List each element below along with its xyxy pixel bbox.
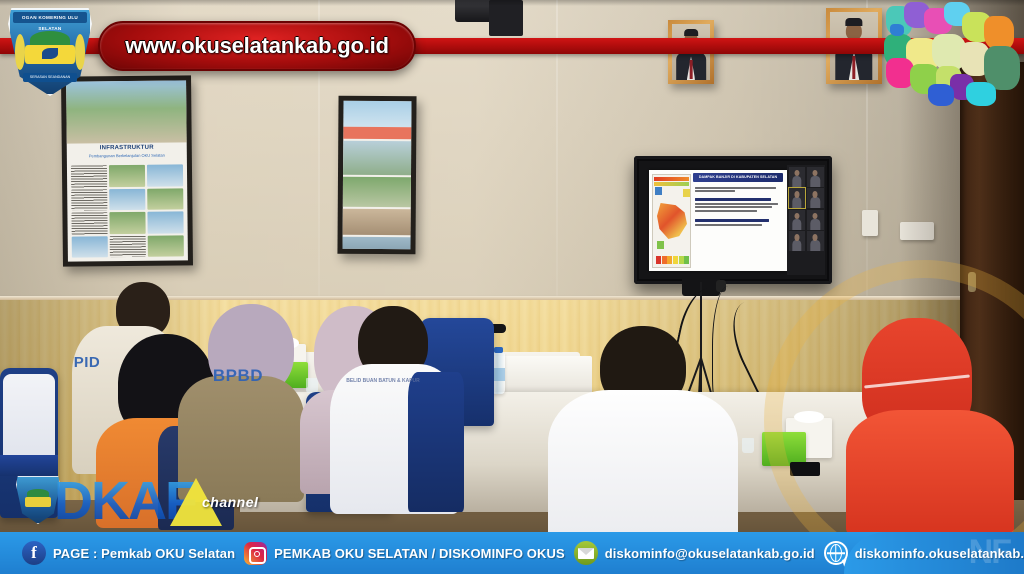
email-label: diskominfo@okuselatankab.go.id — [605, 546, 815, 561]
kabupaten-crest-logo: OGAN KOMERING ULU SELATAN SERASAN SEANDA… — [8, 8, 92, 96]
instagram-entry[interactable]: PEMKAB OKU SELATAN / DISKOMINFO OKUS — [244, 542, 565, 565]
website-url-pill: www.okuselatankab.go.id — [98, 21, 416, 71]
facebook-label: PAGE : Pemkab OKU Selatan — [53, 546, 235, 561]
district-map-graphic — [884, 0, 1024, 106]
email-icon — [574, 541, 598, 565]
broadcast-screenshot: INFRASTRUKTUR Pembangunan Berkelanjutan … — [0, 0, 1024, 574]
instagram-label: PEMKAB OKU SELATAN / DISKOMINFO OKUS — [274, 546, 565, 561]
website-label: diskominfo.okuselatankab.go.id — [855, 546, 1024, 561]
website-entry[interactable]: diskominfo.okuselatankab.go.id — [824, 541, 1024, 565]
website-icon — [824, 541, 848, 565]
social-media-bar: f PAGE : Pemkab OKU Selatan PEMKAB OKU S… — [0, 532, 1024, 574]
email-entry[interactable]: diskominfo@okuselatankab.go.id — [574, 541, 815, 565]
instagram-icon — [244, 542, 267, 565]
decorative-arc — [764, 260, 1024, 574]
crest-ribbon-text: SERASAN SEANDANAN — [23, 73, 77, 82]
dkaf-channel-watermark: DKAF channel — [6, 472, 296, 534]
broadcast-overlay: www.okuselatankab.go.id OGAN KOMERING UL… — [0, 0, 1024, 574]
website-url-text: www.okuselatankab.go.id — [125, 33, 389, 59]
facebook-entry[interactable]: f PAGE : Pemkab OKU Selatan — [22, 541, 235, 565]
facebook-icon: f — [22, 541, 46, 565]
watermark-subtext: channel — [202, 494, 258, 510]
